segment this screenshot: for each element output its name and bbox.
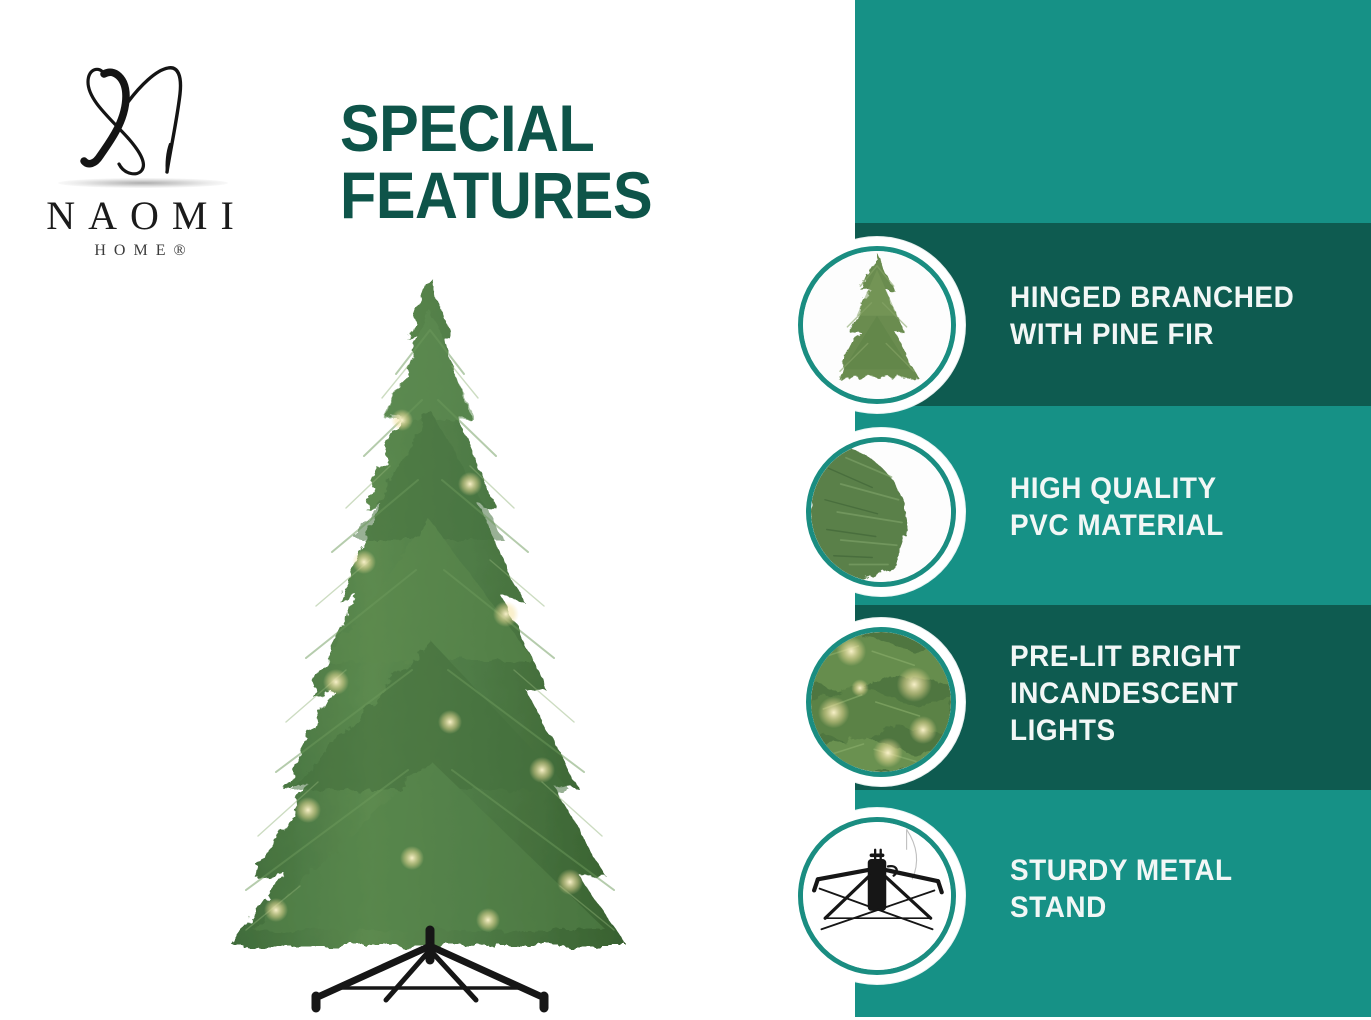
thumbnail-ring-4 (798, 817, 956, 975)
pvc-foliage-closeup-thumbnail-icon (811, 442, 951, 582)
brand-subtitle: HOME® (10, 242, 270, 260)
tree-full-view-thumbnail-icon (803, 251, 951, 399)
feature-thumbnail-1[interactable] (789, 237, 965, 413)
feature-thumbnail-2[interactable] (797, 428, 965, 596)
feature-thumbnail-3[interactable] (797, 618, 965, 786)
product-tree-image (150, 270, 710, 1020)
feature-label-4: STURDY METAL STAND (1010, 852, 1336, 926)
thumbnail-ring-3 (806, 627, 956, 777)
christmas-tree-illustration (150, 270, 710, 1020)
thumbnail-ring-2 (806, 437, 956, 587)
page-title: SPECIAL FEATURES (340, 95, 652, 230)
feature-thumbnail-4[interactable] (789, 808, 965, 984)
incandescent-lights-closeup-thumbnail-icon (811, 632, 951, 772)
brand-logo: NAOMI HOME® (10, 60, 270, 260)
logo-shadow (58, 178, 228, 188)
feature-label-3: PRE-LIT BRIGHT INCANDESCENT LIGHTS (1010, 638, 1336, 750)
band-top (855, 0, 1371, 223)
metal-stand-thumbnail-icon (803, 822, 951, 970)
feature-label-1: HINGED BRANCHED WITH PINE FIR (1010, 279, 1336, 353)
thumbnail-ring-1 (798, 246, 956, 404)
script-n-monogram-icon (70, 60, 210, 185)
brand-name: NAOMI (10, 192, 270, 239)
feature-label-2: HIGH QUALITY PVC MATERIAL (1010, 470, 1336, 544)
